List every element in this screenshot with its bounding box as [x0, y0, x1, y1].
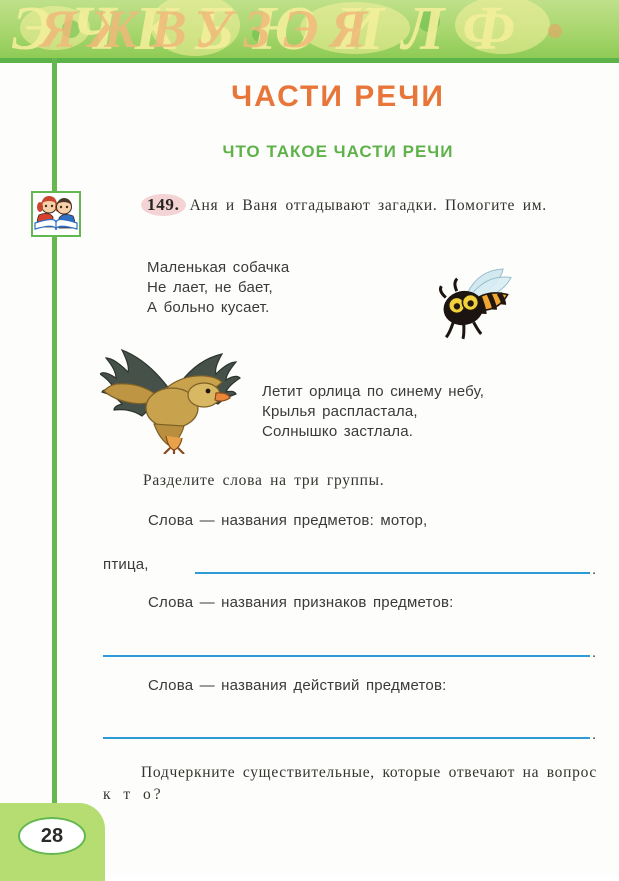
exercise-intro: 149.Аня и Ваня отгадывают загадки. Помог…: [103, 194, 603, 217]
riddle-line: Маленькая собачка: [147, 258, 289, 278]
exercise-number: 149.: [141, 194, 186, 216]
decorative-header-band: ЭЧКБЮИЛФ ЯЖВУЗЭЯ: [0, 0, 619, 58]
page-number-block: 28: [0, 803, 105, 881]
final-task-text: Подчеркните существительные, которые отв…: [141, 764, 597, 781]
riddle-sun-text: Летит орлица по синему небу, Крылья расп…: [262, 382, 484, 442]
group-label-objects: Слова — названия предметов: мотор,: [148, 511, 427, 531]
left-green-spine: [52, 58, 57, 808]
bee-illustration: [418, 262, 528, 353]
riddle-bee-text: Маленькая собачка Не лает, не бает, А бо…: [147, 258, 289, 318]
group-label-actions: Слова — названия действий предметов:: [148, 676, 447, 696]
textbook-page: ЭЧКБЮИЛФ ЯЖВУЗЭЯ ЧАСТИ РЕЧИ ЧТО ТАКОЕ ЧА…: [0, 0, 619, 881]
page-subtitle: ЧТО ТАКОЕ ЧАСТИ РЕЧИ: [57, 142, 619, 162]
page-number: 28: [18, 817, 86, 855]
answer-rule-period-actions: .: [592, 726, 596, 743]
riddle-line: Крылья распластала,: [262, 402, 484, 422]
riddle-line: Не лает, не бает,: [147, 278, 289, 298]
group-continuation-objects: птица,: [103, 555, 149, 575]
task-split-instruction: Разделите слова на три группы.: [143, 470, 384, 492]
final-task: Подчеркните существительные, которые отв…: [103, 762, 603, 806]
answer-rule-actions[interactable]: [103, 737, 590, 739]
kids-reading-icon: [31, 191, 81, 237]
answer-rule-period-objects: .: [592, 561, 596, 578]
bottom-strip: [105, 875, 619, 881]
answer-rule-period-attributes: .: [592, 644, 596, 661]
answer-rule-attributes[interactable]: [103, 655, 590, 657]
riddle-line: Солнышко застлала.: [262, 422, 484, 442]
group-label-attributes: Слова — названия признаков предметов:: [148, 593, 454, 613]
riddle-line: Летит орлица по синему небу,: [262, 382, 484, 402]
final-task-emphasis: к т о?: [103, 786, 164, 803]
riddle-line: А больно кусает.: [147, 298, 289, 318]
answer-rule-objects[interactable]: [195, 572, 590, 574]
exercise-intro-text: Аня и Ваня отгадывают загадки. Помогите …: [190, 197, 547, 214]
eagle-illustration: [100, 336, 250, 459]
page-title: ЧАСТИ РЕЧИ: [57, 80, 619, 114]
header-letters-foreground: ЯЖВУЗЭЯ: [0, 0, 619, 58]
header-rule: [0, 58, 619, 63]
